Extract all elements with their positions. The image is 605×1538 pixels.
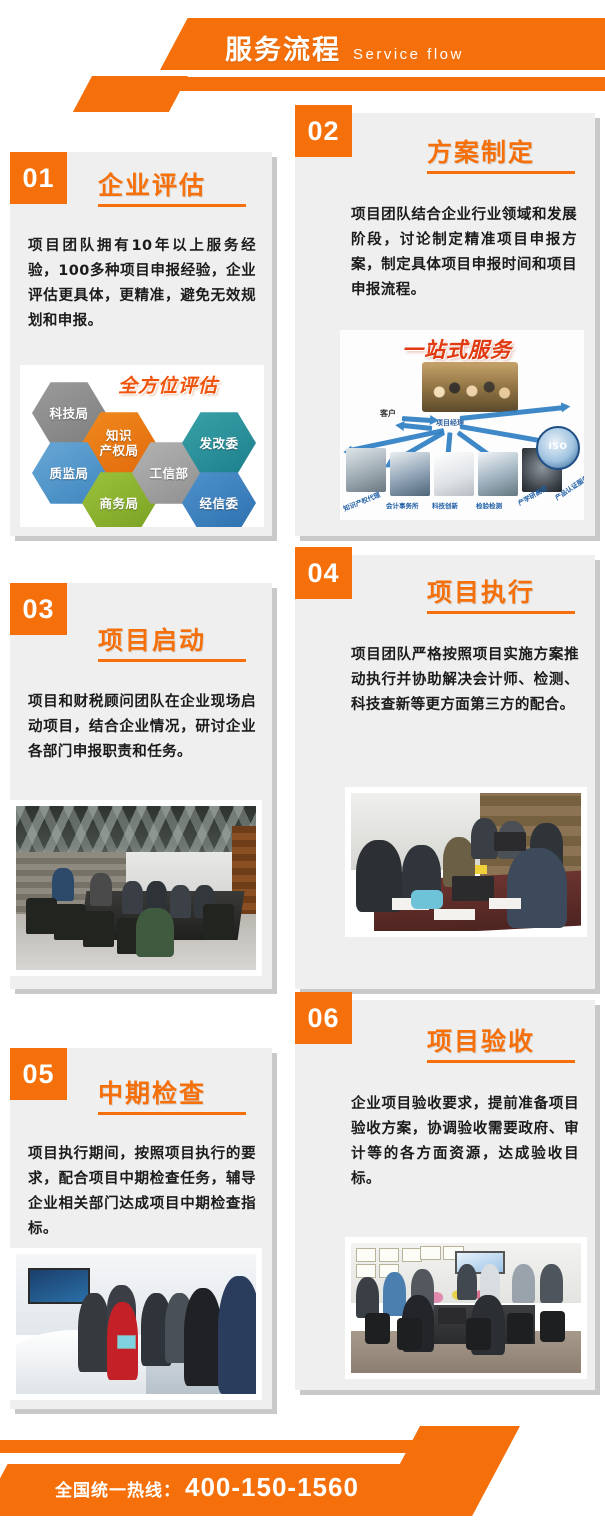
- endpoint-label-inspection: 检验检测: [476, 500, 502, 510]
- office-chair: [540, 1311, 565, 1342]
- step-card-01[interactable]: 企业评估 项目团队拥有10年以上服务经验，100多种项目申报经验，企业评估更具体…: [10, 152, 272, 536]
- photo-showroom-visit: [10, 1248, 262, 1400]
- seated-person: [122, 881, 144, 914]
- thumb-inspection: [478, 452, 518, 496]
- photo-meeting-laptops: [345, 787, 587, 937]
- office-chair: [365, 1313, 390, 1344]
- standing-person: [90, 873, 112, 906]
- step-number-badge-01: 01: [10, 152, 67, 204]
- brochure: [117, 1335, 136, 1349]
- photo-conference-room: [10, 800, 262, 976]
- sticky-note: [475, 865, 487, 875]
- thumb-innovation: [434, 452, 474, 496]
- wall-certificate: [356, 1248, 377, 1262]
- step-number-badge-03: 03: [10, 583, 67, 635]
- visitor: [218, 1276, 261, 1394]
- office-chair: [54, 904, 85, 940]
- office-chair: [397, 1318, 422, 1349]
- card-title: 企业评估: [98, 166, 206, 202]
- step-card-06[interactable]: 项目验收 企业项目验收要求，提前准备项目验收方案，协调验收需要政府、审计等的各方…: [295, 1000, 595, 1390]
- office-chair: [83, 911, 114, 947]
- photo-scene: [16, 1254, 256, 1394]
- iso-seal-icon: [536, 426, 580, 470]
- one-stop-service-title: 一站式服务: [402, 334, 512, 364]
- hexagon-assessment-diagram: 全方位评估 科技局 知识产权局 质监局 商务局 工信部 发改委 经信委: [20, 365, 264, 527]
- attendee: [457, 1264, 478, 1300]
- document: [489, 898, 521, 909]
- card-title: 项目启动: [98, 621, 206, 657]
- endpoint-label-accounting: 会计事务所: [386, 500, 419, 510]
- step-card-03[interactable]: 项目启动 项目和财税顾问团队在企业现场启动项目，结合企业情况，研讨企业各部门申报…: [10, 583, 272, 989]
- wall-certificate: [379, 1248, 400, 1262]
- hexagon-diagram-title: 全方位评估: [118, 371, 218, 398]
- thumb-accounting: [390, 452, 430, 496]
- card-body-text: 项目和财税顾问团队在企业现场启动项目，结合企业情况，研讨企业各部门申报职责和任务…: [28, 690, 256, 765]
- card-title: 中期检查: [98, 1074, 206, 1110]
- client-label: 客户: [380, 408, 396, 419]
- meeting-photo-thumb: [422, 362, 518, 412]
- hotline-group: 全国统一热线： 400-150-1560: [55, 1472, 359, 1508]
- card-body-text: 项目执行期间，按照项目执行的要求，配合项目中期检查任务，辅导企业相关部门达成项目…: [28, 1142, 256, 1242]
- page-subtitle: Service flow: [353, 46, 464, 63]
- wall-certificate: [420, 1246, 441, 1260]
- photo-boardroom: [345, 1237, 587, 1379]
- title-underline: [98, 659, 246, 662]
- hexagon-canvas: 全方位评估 科技局 知识产权局 质监局 商务局 工信部 发改委 经信委: [20, 365, 264, 527]
- title-underline: [427, 1060, 575, 1063]
- hotline-number[interactable]: 400-150-1560: [185, 1472, 359, 1503]
- foreground-attendee: [507, 848, 567, 928]
- photo-scene: [351, 793, 581, 931]
- foreground-person: [136, 908, 174, 957]
- attendee: [512, 1264, 535, 1303]
- card-title: 项目执行: [427, 573, 535, 609]
- step-card-02[interactable]: 方案制定 项目团队结合企业行业领域和发展阶段，讨论制定精准项目申报方案，制定具体…: [295, 113, 595, 536]
- title-underline: [98, 204, 246, 207]
- card-body-text: 项目团队严格按照项目实施方案推动执行并协助解决会计师、检测、科技查新等更方面第三…: [351, 643, 579, 718]
- header-banner-underbar: [176, 77, 605, 91]
- attendee: [356, 1277, 379, 1319]
- visitor: [184, 1288, 222, 1386]
- title-underline: [427, 171, 575, 174]
- endpoint-label-innovation: 科技创新: [432, 500, 458, 510]
- step-number-badge-02: 02: [295, 105, 352, 157]
- step-card-05[interactable]: 中期检查 项目执行期间，按照项目执行的要求，配合项目中期检查任务，辅导企业相关部…: [10, 1048, 272, 1409]
- laptop: [494, 832, 526, 851]
- hotline-label: 全国统一热线：: [55, 1476, 181, 1501]
- test-equipment: [411, 890, 443, 909]
- page-title: 服务流程: [225, 28, 341, 67]
- card-body-text: 项目团队拥有10年以上服务经验，100多种项目申报经验，企业评估更具体，更精准，…: [28, 234, 256, 334]
- footer-banner-overbar: [0, 1440, 447, 1453]
- card-title: 项目验收: [427, 1022, 535, 1058]
- step-number-badge-05: 05: [10, 1048, 67, 1100]
- header-title-group: 服务流程 Service flow: [225, 28, 464, 66]
- wall-certificate: [356, 1264, 377, 1278]
- page-header: 服务流程 Service flow: [0, 0, 605, 110]
- visitor: [78, 1293, 109, 1371]
- office-chair: [507, 1313, 532, 1344]
- one-stop-service-diagram: 一站式服务 客户 项目经理 知识产权代理 会计事务所 科技创新 检验检测 产学研…: [340, 330, 584, 520]
- card-body-text: 项目团队结合企业行业领域和发展阶段，讨论制定精准项目申报方案，制定具体项目申报时…: [351, 203, 577, 303]
- page-footer: 全国统一热线： 400-150-1560: [0, 1412, 605, 1538]
- office-chair: [26, 898, 57, 934]
- step-number-badge-06: 06: [295, 992, 352, 1044]
- photo-scene: [351, 1243, 581, 1373]
- laptop: [452, 876, 493, 901]
- card-title: 方案制定: [427, 133, 535, 169]
- office-chair: [203, 904, 234, 940]
- title-underline: [98, 1112, 246, 1115]
- document: [434, 909, 475, 920]
- step-number-badge-04: 04: [295, 547, 352, 599]
- standing-presenter: [52, 868, 74, 901]
- attendee: [540, 1264, 563, 1303]
- laptop: [438, 1308, 466, 1324]
- step-card-04[interactable]: 项目执行 项目团队严格按照项目实施方案推动执行并协助解决会计师、检测、科技查新等…: [295, 555, 595, 989]
- header-wedge-shape: [73, 76, 188, 112]
- thumb-ip-agency: [346, 448, 386, 492]
- office-chair: [466, 1318, 491, 1349]
- seated-person: [170, 885, 192, 918]
- photo-scene: [16, 806, 256, 970]
- title-underline: [427, 611, 575, 614]
- display-screen: [28, 1268, 90, 1304]
- card-body-text: 企业项目验收要求，提前准备项目验收方案，协调验收需要政府、审计等的各方面资源，达…: [351, 1092, 579, 1192]
